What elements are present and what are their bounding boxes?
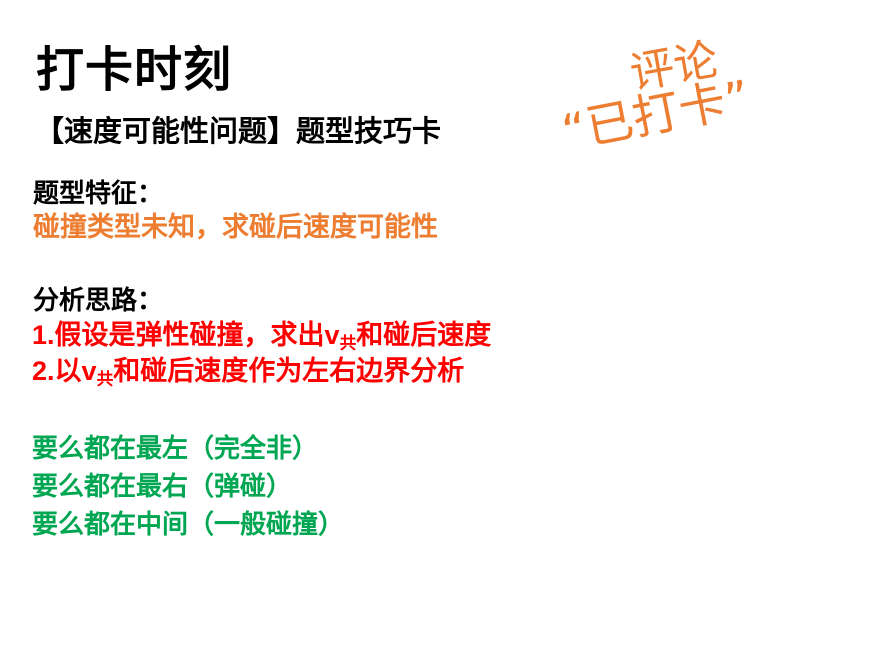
analysis-step-index: 2. bbox=[32, 356, 55, 386]
page-subtitle: 【速度可能性问题】题型技巧卡 bbox=[35, 116, 441, 149]
conclusion-list: 要么都在最左（完全非） 要么都在最右（弹碰） 要么都在中间（一般碰撞） bbox=[32, 431, 344, 545]
analysis-step-item: 2.以v共和碰后速度作为左右边界分析 bbox=[32, 354, 491, 390]
analysis-step-text-before: 以 bbox=[55, 356, 82, 386]
analysis-step-item: 1.假设是弹性碰撞，求出v共和碰后速度 bbox=[32, 318, 491, 354]
analysis-step-index: 1. bbox=[32, 320, 55, 350]
conclusion-item: 要么都在最右（弹碰） bbox=[32, 469, 344, 507]
section-heading-analysis: 分析思路： bbox=[33, 285, 163, 316]
analysis-step-list: 1.假设是弹性碰撞，求出v共和碰后速度 2.以v共和碰后速度作为左右边界分析 bbox=[32, 318, 491, 390]
section-heading-feature: 题型特征： bbox=[33, 178, 163, 209]
conclusion-item: 要么都在最左（完全非） bbox=[32, 431, 344, 469]
velocity-symbol: v bbox=[325, 320, 340, 350]
velocity-subscript: 共 bbox=[340, 334, 357, 353]
analysis-step-text-before: 假设是弹性碰撞，求出 bbox=[55, 320, 325, 350]
feature-description: 碰撞类型未知，求碰后速度可能性 bbox=[33, 211, 438, 243]
velocity-symbol: v bbox=[82, 356, 97, 386]
page-title: 打卡时刻 bbox=[36, 44, 232, 98]
slide-canvas: 打卡时刻 【速度可能性问题】题型技巧卡 评论 “已打卡” 题型特征： 碰撞类型未… bbox=[0, 0, 890, 667]
comment-stamp: 评论 “已打卡” bbox=[540, 28, 870, 178]
analysis-step-text-after: 和碰后速度 bbox=[356, 320, 491, 350]
analysis-step-text-after: 和碰后速度作为左右边界分析 bbox=[113, 356, 464, 386]
velocity-subscript: 共 bbox=[97, 370, 114, 389]
conclusion-item: 要么都在中间（一般碰撞） bbox=[32, 507, 344, 545]
